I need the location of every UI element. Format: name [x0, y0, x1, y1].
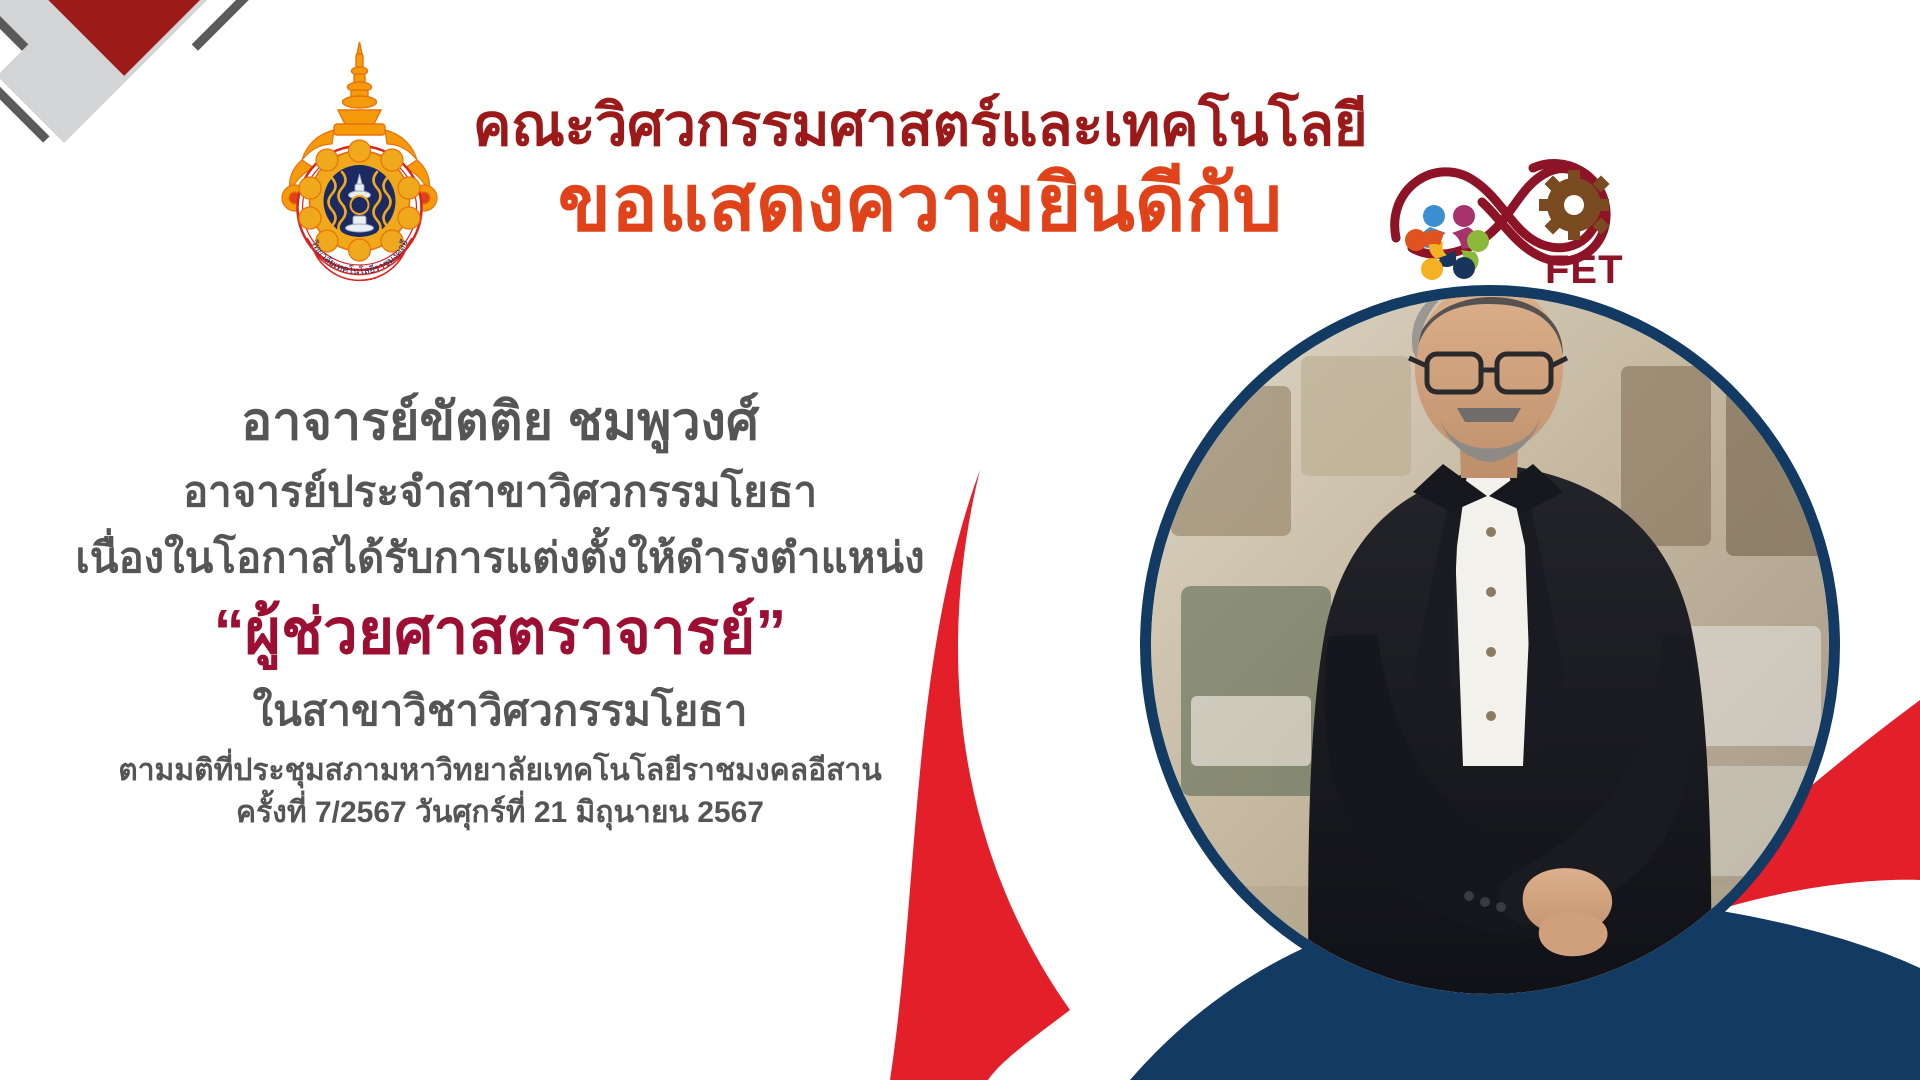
resolution-reference: ตามมติที่ประชุมสภามหาวิทยาลัยเทคโนโลยีรา… — [0, 753, 1000, 788]
congratulations-headline: ขอแสดงความยินดีกับ — [470, 161, 1370, 247]
portrait-oval-ring — [1140, 285, 1840, 1005]
body-text-block: อาจารย์ขัตติย ชมพูวงศ์ อาจารย์ประจำสาขาว… — [0, 392, 1000, 830]
honoree-role: อาจารย์ประจำสาขาวิศวกรรมโยธา — [0, 467, 1000, 517]
portrait-photo-frame — [1140, 285, 1840, 1005]
congratulation-poster: มหาวิทยาลัยเทคโนโลยีราชมงคลอีสาน คณะวิศว… — [0, 0, 1920, 1080]
occasion-text: เนื่องในโอกาสได้รับการแต่งตั้งให้ดำรงตำแ… — [0, 533, 1000, 583]
academic-title: “ผู้ช่วยศาสตราจารย์” — [0, 596, 1000, 669]
header-text-block: คณะวิศวกรรมศาสตร์และเทคโนโลยี ขอแสดงความ… — [470, 96, 1370, 247]
faculty-name: คณะวิศวกรรมศาสตร์และเทคโนโลยี — [470, 96, 1370, 157]
meeting-date: ครั้งที่ 7/2567 วันศุกร์ที่ 21 มิถุนายน … — [0, 795, 1000, 830]
academic-field: ในสาขาวิชาวิศวกรรมโยธา — [0, 686, 1000, 736]
honoree-name: อาจารย์ขัตติย ชมพูวงศ์ — [0, 392, 1000, 453]
rmuti-seal-icon: มหาวิทยาลัยเทคโนโลยีราชมงคลอีสาน — [262, 38, 457, 293]
portrait-photo — [1151, 296, 1829, 994]
